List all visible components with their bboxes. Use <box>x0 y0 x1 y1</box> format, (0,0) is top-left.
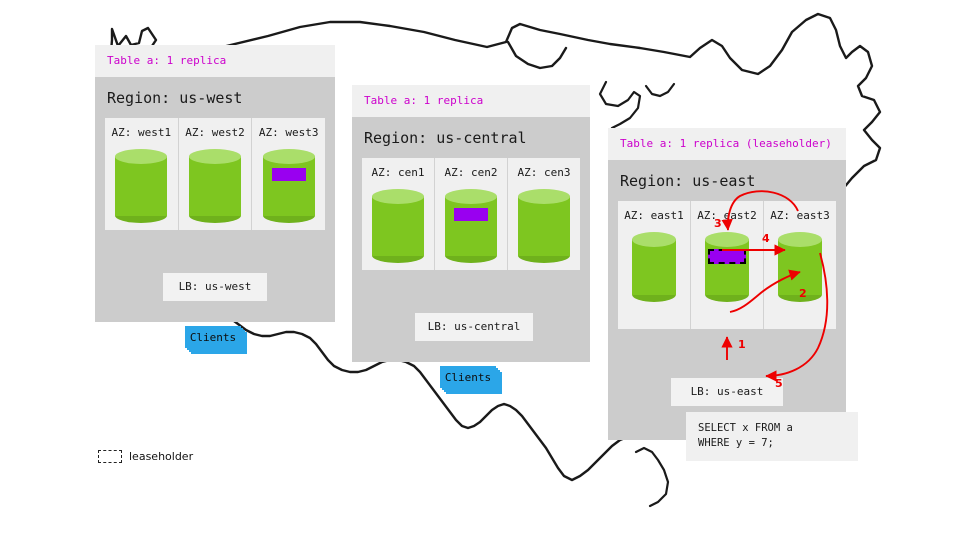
legend-label: leaseholder <box>129 450 193 463</box>
az-cell-west2[interactable]: AZ: west2 <box>179 118 253 230</box>
az-label-east2: AZ: east2 <box>691 210 763 221</box>
az-label-cen1: AZ: cen1 <box>362 167 434 178</box>
clients-label-us-west[interactable]: Clients <box>185 326 241 348</box>
az-label-west3: AZ: west3 <box>252 127 325 138</box>
region-panel-us-west: Table a: 1 replica Region: us-west AZ: w… <box>95 45 335 322</box>
cylinder-top <box>189 149 241 164</box>
cylinder-body <box>632 239 676 295</box>
arrow-label-1: 1 <box>738 339 746 350</box>
cylinder-top <box>445 189 497 204</box>
cylinder-body <box>372 196 424 256</box>
cylinder-body <box>518 196 570 256</box>
cylinder-body <box>705 239 749 295</box>
az-row-us-east: AZ: east1 AZ: east2 <box>618 201 836 329</box>
cylinder-body <box>115 156 167 216</box>
region-name-us-west: Region: us-west <box>95 77 335 118</box>
region-name-us-central: Region: us-central <box>352 117 590 158</box>
az-label-cen3: AZ: cen3 <box>508 167 580 178</box>
replica-cylinder-west3[interactable] <box>263 149 315 223</box>
arrow-label-5: 5 <box>775 378 783 389</box>
cylinder-top <box>115 149 167 164</box>
az-cell-cen3[interactable]: AZ: cen3 <box>508 158 580 270</box>
cylinder-top <box>632 232 676 247</box>
region-name-us-east: Region: us-east <box>608 160 846 201</box>
sql-query-box: SELECT x FROM a WHERE y = 7; <box>686 412 858 461</box>
legend: leaseholder <box>98 450 193 463</box>
region-header-us-east: Table a: 1 replica (leaseholder) <box>608 128 846 160</box>
az-label-east3: AZ: east3 <box>764 210 836 221</box>
arrow-label-4: 4 <box>762 233 770 244</box>
cylinder-top <box>263 149 315 164</box>
replica-cylinder-east1[interactable] <box>632 232 676 302</box>
az-label-east1: AZ: east1 <box>618 210 690 221</box>
replica-cylinder-cen3[interactable] <box>518 189 570 263</box>
cylinder-body <box>189 156 241 216</box>
az-cell-cen2[interactable]: AZ: cen2 <box>435 158 508 270</box>
region-panel-us-central: Table a: 1 replica Region: us-central AZ… <box>352 85 590 362</box>
range-replica-marker-west3[interactable] <box>272 168 306 181</box>
az-row-us-central: AZ: cen1 AZ: cen2 <box>362 158 580 270</box>
replica-cylinder-cen2[interactable] <box>445 189 497 263</box>
arrow-label-3: 3 <box>714 218 722 229</box>
az-label-west1: AZ: west1 <box>105 127 178 138</box>
az-cell-west1[interactable]: AZ: west1 <box>105 118 179 230</box>
load-balancer-us-west[interactable]: LB: us-west <box>163 273 267 301</box>
az-row-us-west: AZ: west1 AZ: west2 AZ <box>105 118 325 230</box>
leaseholder-marker-east2[interactable] <box>708 249 746 264</box>
range-replica-marker-cen2[interactable] <box>454 208 488 221</box>
cylinder-body <box>263 156 315 216</box>
az-cell-west3[interactable]: AZ: west3 <box>252 118 325 230</box>
az-cell-east1[interactable]: AZ: east1 <box>618 201 691 329</box>
diagram-canvas: Table a: 1 replica Region: us-west AZ: w… <box>0 0 960 540</box>
az-cell-east3[interactable]: AZ: east3 <box>764 201 836 329</box>
region-header-us-west: Table a: 1 replica <box>95 45 335 77</box>
replica-cylinder-cen1[interactable] <box>372 189 424 263</box>
az-label-west2: AZ: west2 <box>179 127 252 138</box>
az-cell-east2[interactable]: AZ: east2 <box>691 201 764 329</box>
clients-label-us-central[interactable]: Clients <box>440 366 496 388</box>
replica-cylinder-west1[interactable] <box>115 149 167 223</box>
region-panel-us-east: Table a: 1 replica (leaseholder) Region:… <box>608 128 846 440</box>
az-cell-cen1[interactable]: AZ: cen1 <box>362 158 435 270</box>
load-balancer-us-central[interactable]: LB: us-central <box>415 313 533 341</box>
region-header-us-central: Table a: 1 replica <box>352 85 590 117</box>
cylinder-top <box>372 189 424 204</box>
cylinder-top <box>518 189 570 204</box>
arrow-label-2: 2 <box>799 288 807 299</box>
cylinder-top <box>705 232 749 247</box>
replica-cylinder-east2[interactable] <box>705 232 749 302</box>
leaseholder-swatch-icon <box>98 450 122 463</box>
clients-stack-us-central[interactable]: Clients <box>440 366 502 394</box>
cylinder-top <box>778 232 822 247</box>
clients-stack-us-west[interactable]: Clients <box>185 326 247 354</box>
load-balancer-us-east[interactable]: LB: us-east <box>671 378 783 406</box>
cylinder-body <box>445 196 497 256</box>
az-label-cen2: AZ: cen2 <box>435 167 507 178</box>
replica-cylinder-west2[interactable] <box>189 149 241 223</box>
